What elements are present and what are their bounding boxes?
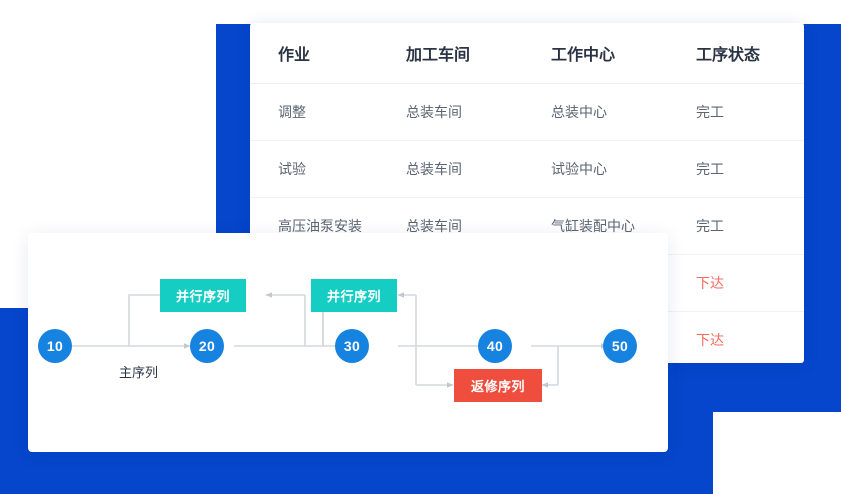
cell-work-center: 试验中心 xyxy=(551,141,696,198)
parallel-sequence-label-2: 并行序列 xyxy=(327,286,381,305)
cell-work-center: 总装中心 xyxy=(551,84,696,141)
parallel-sequence-box-1[interactable]: 并行序列 xyxy=(160,279,246,312)
screenshot-root: 作业 加工车间 工作中心 工序状态 调整 总装车间 总装中心 完工 试验 总装车… xyxy=(0,0,841,494)
operation-node-40-label: 40 xyxy=(487,338,503,354)
table-row[interactable]: 调整 总装车间 总装中心 完工 xyxy=(250,84,804,141)
cell-status: 下达 xyxy=(696,312,804,364)
cell-job: 调整 xyxy=(250,84,406,141)
operation-node-50[interactable]: 50 xyxy=(603,329,637,363)
main-sequence-label: 主序列 xyxy=(119,362,158,381)
routing-flow-card: 并行序列 并行序列 返修序列 10 20 30 40 50 主序列 xyxy=(28,233,668,452)
cell-status: 下达 xyxy=(696,255,804,312)
operation-node-40[interactable]: 40 xyxy=(478,329,512,363)
operation-node-20-label: 20 xyxy=(199,338,215,354)
cell-workshop: 总装车间 xyxy=(406,141,551,198)
cell-workshop: 总装车间 xyxy=(406,84,551,141)
rework-sequence-box[interactable]: 返修序列 xyxy=(454,369,542,402)
background-cutout-bottom-right xyxy=(713,412,841,494)
column-header-work-center[interactable]: 工作中心 xyxy=(551,23,696,84)
process-table-header: 作业 加工车间 工作中心 工序状态 xyxy=(250,23,804,84)
column-header-workshop[interactable]: 加工车间 xyxy=(406,23,551,84)
column-header-status[interactable]: 工序状态 xyxy=(696,23,804,84)
cell-status: 完工 xyxy=(696,141,804,198)
operation-node-50-label: 50 xyxy=(612,338,628,354)
parallel-sequence-label-1: 并行序列 xyxy=(176,286,230,305)
background-cutout-top-left xyxy=(0,0,216,200)
cell-status: 完工 xyxy=(696,198,804,255)
operation-node-30[interactable]: 30 xyxy=(335,329,369,363)
operation-node-10[interactable]: 10 xyxy=(38,329,72,363)
table-row[interactable]: 试验 总装车间 试验中心 完工 xyxy=(250,141,804,198)
table-header-row: 作业 加工车间 工作中心 工序状态 xyxy=(250,23,804,84)
operation-node-30-label: 30 xyxy=(344,338,360,354)
column-header-job[interactable]: 作业 xyxy=(250,23,406,84)
rework-sequence-label: 返修序列 xyxy=(471,376,525,395)
parallel-sequence-box-2[interactable]: 并行序列 xyxy=(311,279,397,312)
operation-node-10-label: 10 xyxy=(47,338,63,354)
cell-status: 完工 xyxy=(696,84,804,141)
cell-job: 试验 xyxy=(250,141,406,198)
operation-node-20[interactable]: 20 xyxy=(190,329,224,363)
